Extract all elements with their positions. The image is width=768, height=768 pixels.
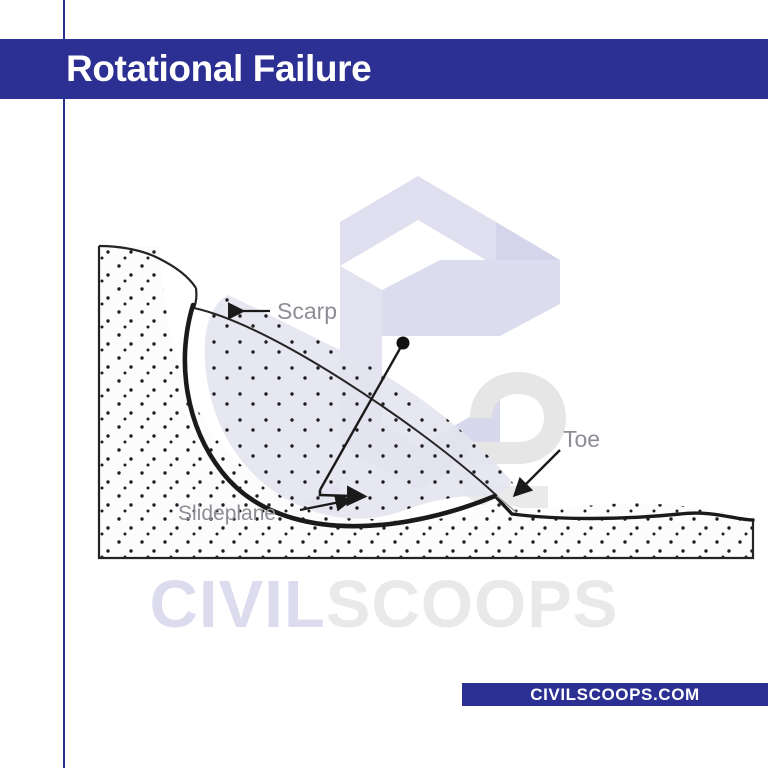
label-scarp: Scarp (277, 298, 337, 324)
footer-brand-badge: CIVILSCOOPS.COM (462, 683, 768, 706)
page-root: Rotational Failure (0, 0, 768, 768)
footer-brand-text: CIVILSCOOPS.COM (530, 685, 700, 705)
label-toe: Toe (563, 426, 600, 452)
label-slideplane: Slideplane (178, 502, 276, 525)
watermark-word-civil: CIVIL (150, 567, 326, 642)
watermark-wordmark: CIVILSCOOPS (0, 566, 768, 643)
watermark-word-scoops: SCOOPS (326, 567, 619, 642)
page-title: Rotational Failure (66, 39, 371, 99)
